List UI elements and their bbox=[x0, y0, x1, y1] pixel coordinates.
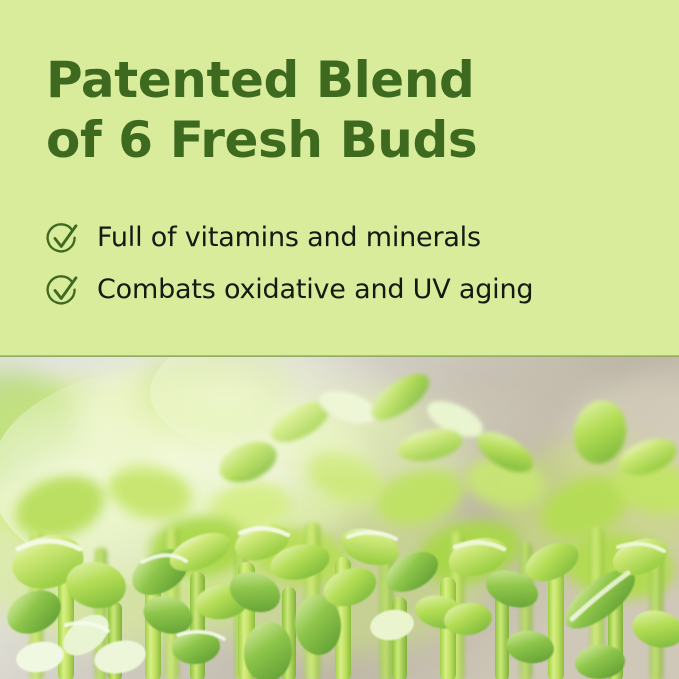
info-panel: Patented Blend of 6 Fresh Buds Full of v… bbox=[0, 0, 679, 357]
product-infographic: Patented Blend of 6 Fresh Buds Full of v… bbox=[0, 0, 679, 679]
benefits-list: Full of vitamins and minerals Combats ox… bbox=[44, 214, 664, 318]
check-circle-icon bbox=[44, 220, 80, 256]
list-item: Full of vitamins and minerals bbox=[44, 214, 664, 262]
list-item: Combats oxidative and UV aging bbox=[44, 266, 664, 314]
list-item-label: Full of vitamins and minerals bbox=[97, 222, 481, 254]
list-item-label: Combats oxidative and UV aging bbox=[97, 274, 533, 306]
microgreens-sprouts-photo bbox=[0, 357, 679, 679]
page-title: Patented Blend of 6 Fresh Buds bbox=[46, 50, 646, 170]
check-circle-icon bbox=[44, 272, 80, 308]
